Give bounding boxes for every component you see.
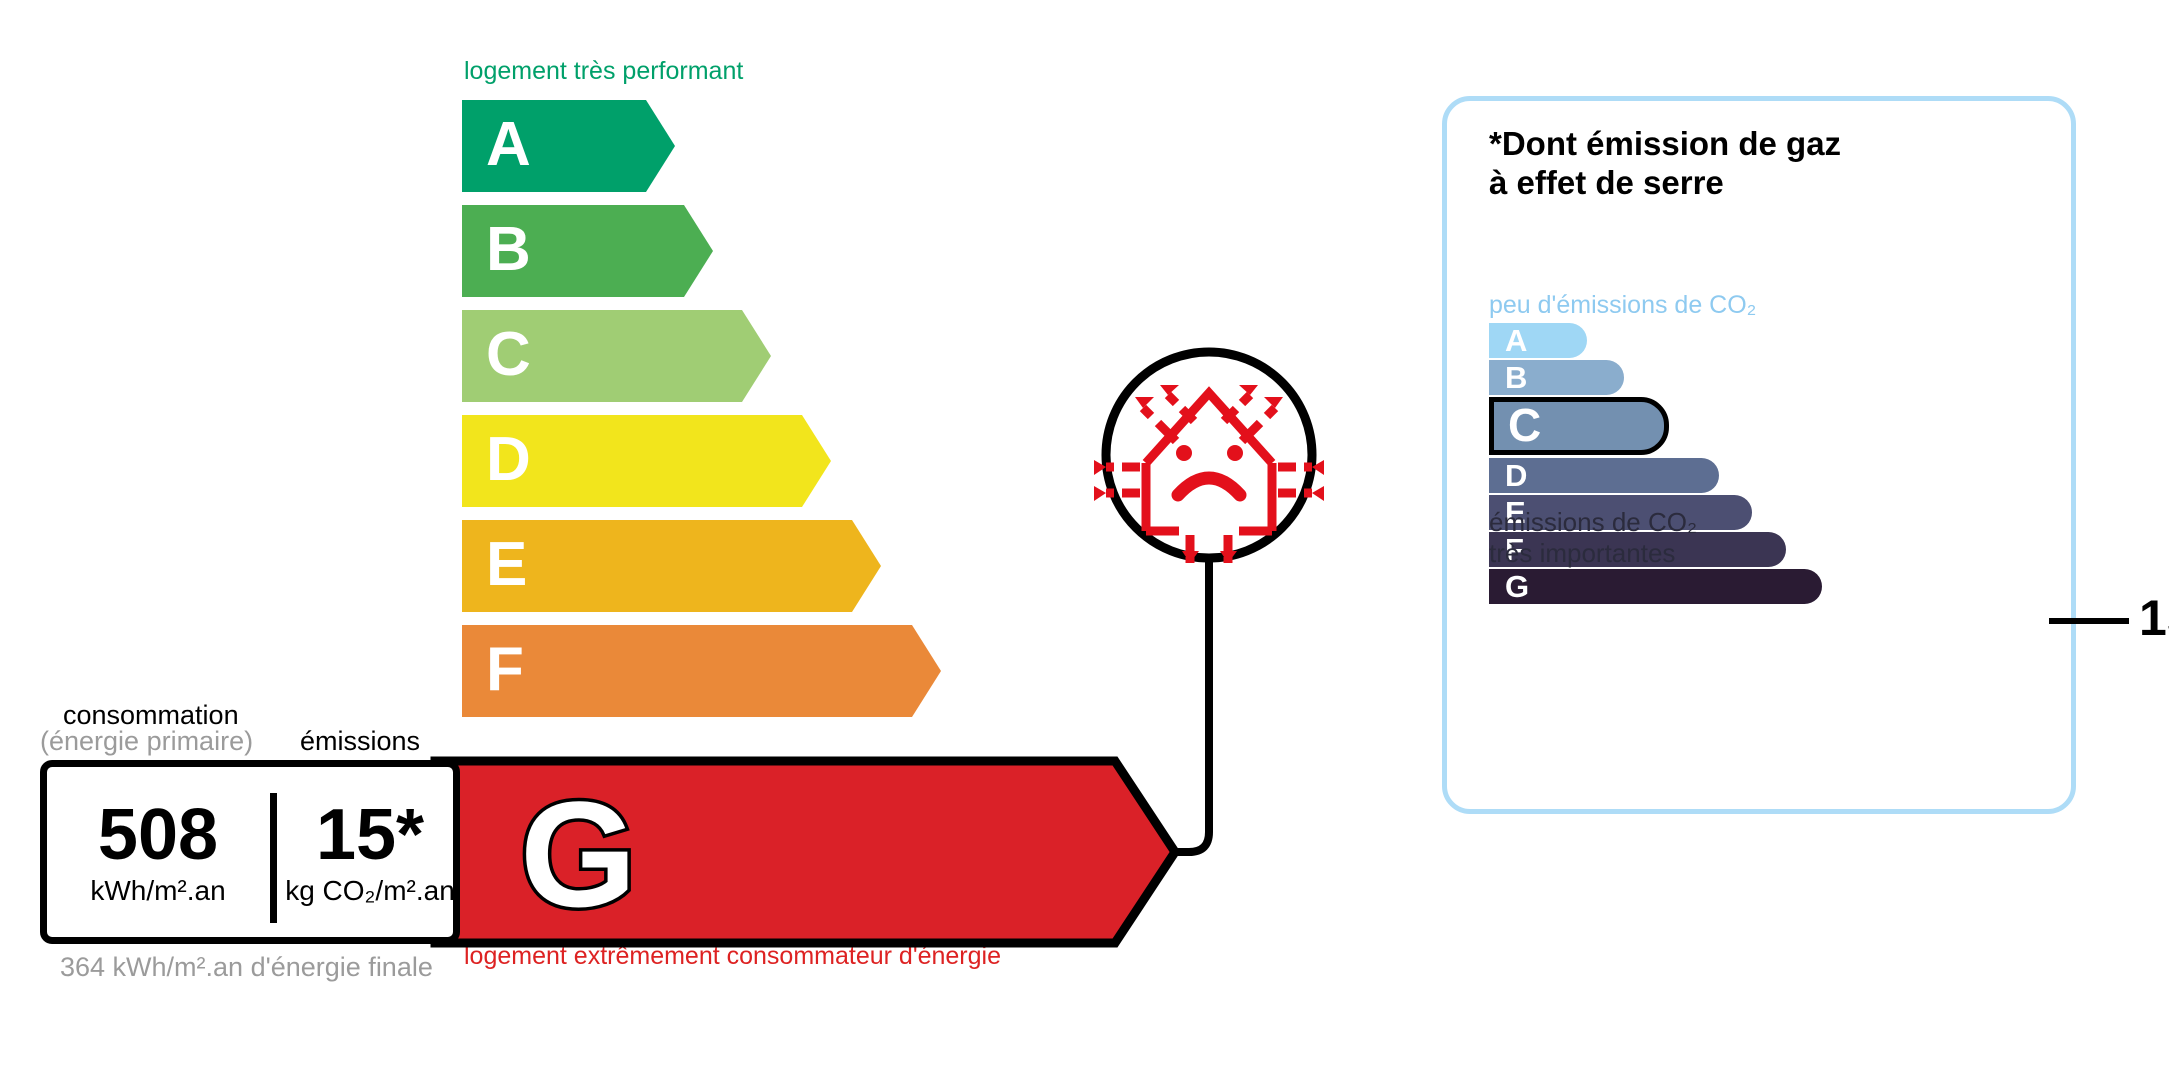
- dpe-diagram: logement très performant A B C: [0, 0, 2169, 1079]
- consumption-value: 508: [98, 799, 218, 871]
- co2-bar-g: G: [1489, 569, 1822, 604]
- co2-emissions-panel: *Dont émission de gaz à effet de serre p…: [1442, 96, 2076, 814]
- co2-bar-d: D: [1489, 458, 1719, 493]
- header-primary-energy: (énergie primaire): [40, 726, 253, 757]
- energy-band-f-letter: F: [486, 639, 524, 701]
- co2-bar-c-letter: C: [1508, 402, 1541, 448]
- consumption-value-cell: 508 kWh/m².an: [47, 767, 269, 937]
- energy-band-d-letter: D: [486, 429, 531, 491]
- co2-bottom-caption: émissions de CO₂ très importantes: [1489, 507, 1697, 568]
- energy-band-e-letter: E: [486, 534, 527, 596]
- co2-bar-a: A: [1489, 323, 1587, 358]
- co2-bar-list: A B C D E F G 15 kg CO₂/m².a: [1489, 323, 2049, 513]
- result-row: G 508 kWh/m².an 15* kg CO₂/m².an: [40, 756, 1180, 948]
- emission-value: 15*: [316, 799, 424, 871]
- co2-bar-d-letter: D: [1505, 459, 1527, 490]
- co2-callout: 15 kg CO₂/m².an: [2049, 591, 2169, 651]
- header-emissions: émissions: [300, 726, 420, 757]
- co2-callout-value: 15: [2139, 593, 2169, 643]
- energy-band-b: B: [462, 205, 713, 297]
- energy-band-f: F: [462, 625, 941, 717]
- energy-band-d: D: [462, 415, 831, 507]
- badge-circle: [1106, 352, 1312, 558]
- co2-bar-c-highlighted: C: [1489, 397, 1669, 455]
- energy-band-a-letter: A: [486, 114, 531, 176]
- co2-top-caption: peu d'émissions de CO₂: [1489, 291, 1756, 320]
- energy-band-g-letter: G: [520, 770, 637, 938]
- co2-bar-b: B: [1489, 360, 1624, 395]
- co2-callout-leader-line: [2049, 618, 2129, 624]
- energy-performance-ladder: logement très performant A B C: [0, 0, 1260, 1079]
- ladder-top-caption: logement très performant: [464, 57, 743, 86]
- final-energy-note: 364 kWh/m².an d'énergie finale: [60, 952, 433, 984]
- energy-band-c-letter: C: [486, 324, 531, 386]
- co2-bar-b-letter: B: [1505, 361, 1527, 392]
- co2-bar-a-letter: A: [1505, 324, 1527, 355]
- emission-value-cell: 15* kg CO₂/m².an: [275, 767, 465, 937]
- energy-band-c: C: [462, 310, 771, 402]
- co2-bar-g-letter: G: [1505, 570, 1529, 601]
- value-box: 508 kWh/m².an 15* kg CO₂/m².an: [40, 760, 460, 944]
- energy-band-b-letter: B: [486, 219, 531, 281]
- energy-band-e: E: [462, 520, 881, 612]
- co2-panel-title: *Dont émission de gaz à effet de serre: [1489, 125, 1841, 203]
- energy-band-g-result: G: [430, 756, 1180, 948]
- emission-unit: kg CO₂/m².an: [285, 877, 455, 905]
- band-g-arrow-shape: G: [430, 756, 1180, 948]
- band-f-arrow-shape: [462, 625, 941, 717]
- energy-band-a: A: [462, 100, 675, 192]
- consumption-unit: kWh/m².an: [90, 877, 225, 905]
